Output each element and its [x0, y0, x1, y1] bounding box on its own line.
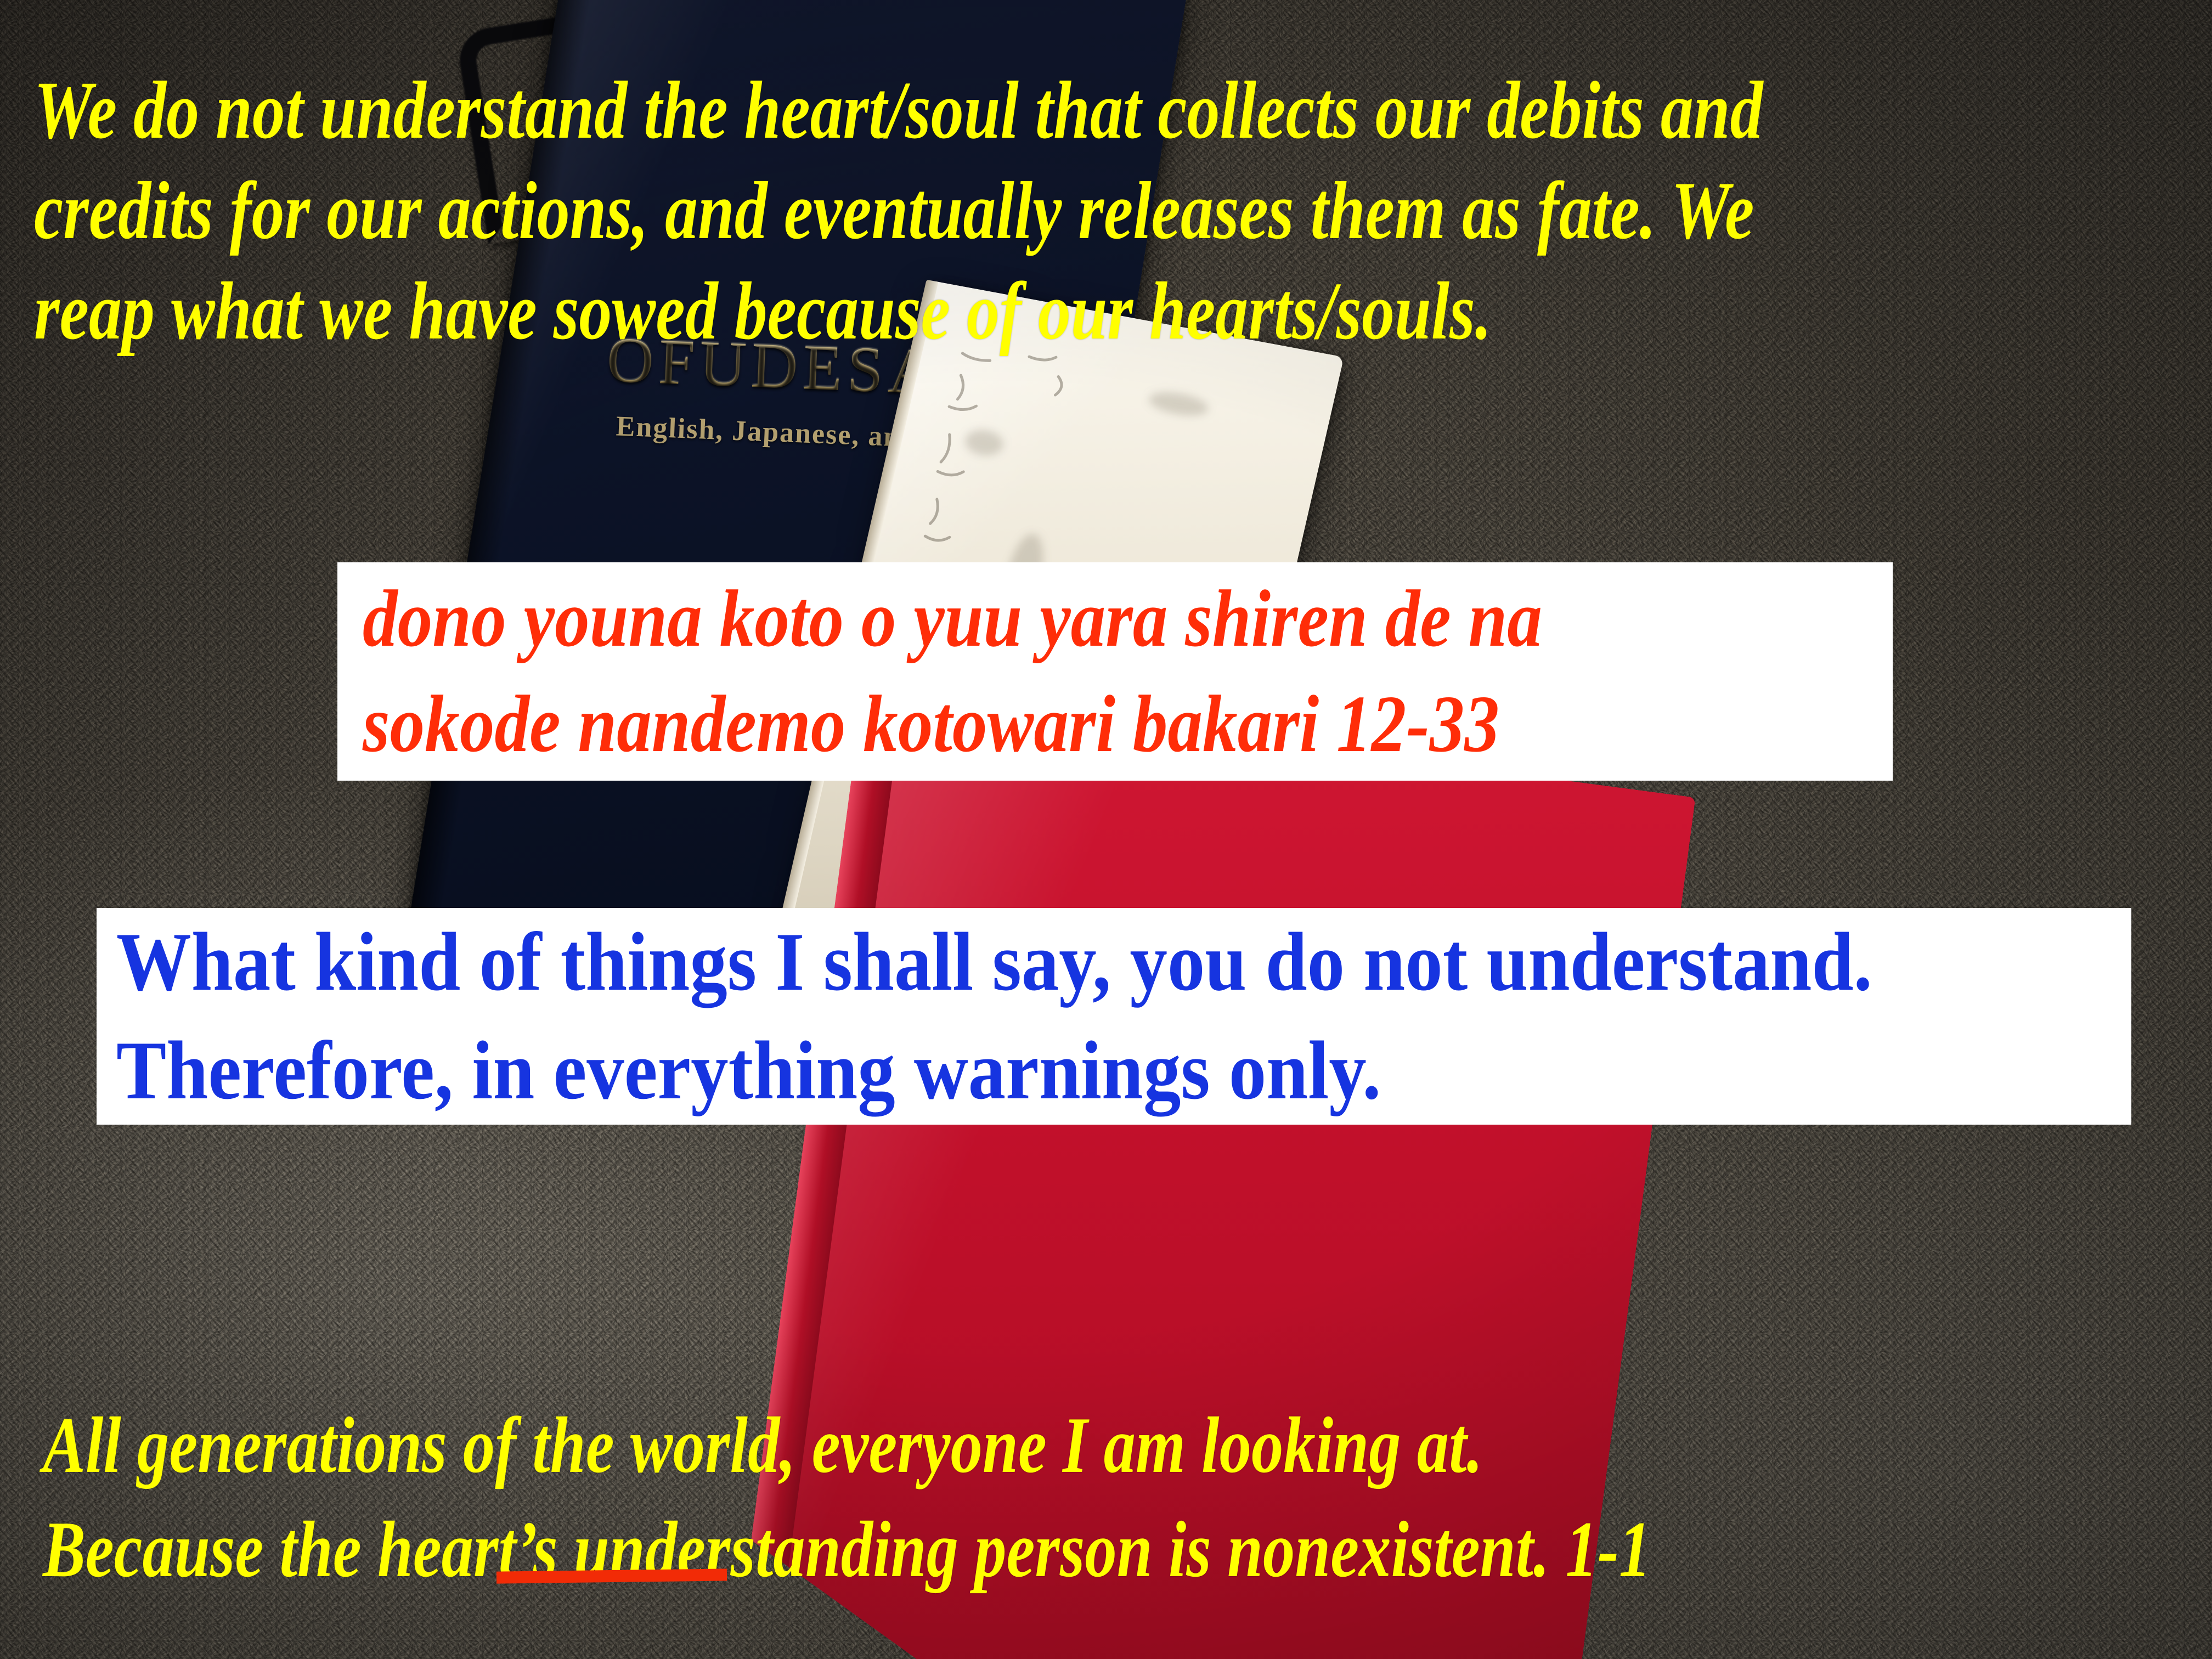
translation-line-1: What kind of things I shall say, you do … [116, 908, 1930, 1017]
romaji-text-box: dono youna koto o yuu yara shiren de na … [337, 562, 1893, 781]
translation-line-2: Therefore, in everything warnings only. [116, 1017, 1930, 1125]
caption-top-line-2: credits for our actions, and eventually … [34, 161, 1763, 261]
caption-bottom-line-1: All generations of the world, everyone I… [43, 1393, 1651, 1498]
romaji-line-2: sokode nandemo kotowari bakari 12-33 [363, 672, 1679, 777]
caption-top-line-3: reap what we have sowed because of our h… [34, 261, 1763, 362]
caption-bottom: All generations of the world, everyone I… [43, 1393, 1651, 1602]
slide-canvas: OFUDESAKI English, Japanese, and Rom Ofu [0, 0, 2212, 1659]
translation-text-box: What kind of things I shall say, you do … [97, 908, 2131, 1125]
caption-top: We do not understand the heart/soul that… [34, 60, 1763, 362]
caption-bottom-line-2: Because the heart’s understanding person… [43, 1498, 1651, 1602]
caption-top-line-1: We do not understand the heart/soul that… [34, 60, 1763, 161]
romaji-line-1: dono youna koto o yuu yara shiren de na [363, 566, 1679, 672]
